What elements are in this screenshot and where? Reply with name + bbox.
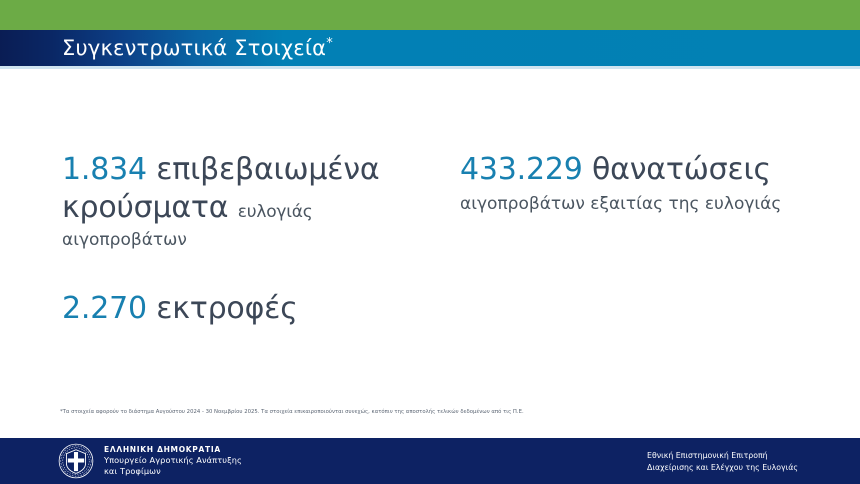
stat-label-small: ευλογιάς: [238, 202, 313, 222]
stat-subtext: αιγοπροβάτων: [62, 229, 422, 252]
page-title-asterisk: *: [326, 36, 333, 51]
stat-number: 1.834: [62, 152, 147, 187]
stat-card-culled-animals: 433.229 θανατώσεις αιγοπροβάτων εξαιτίας…: [460, 151, 820, 216]
ministry-line-2: Υπουργείο Αγροτικής Ανάπτυξης: [104, 455, 242, 466]
stat-number: 2.270: [62, 291, 147, 326]
header-band: Συγκεντρωτικά Στοιχεία*: [0, 30, 860, 66]
stats-column-left: 1.834 επιβεβαιωμένα κρούσματα ευλογιάς α…: [62, 151, 422, 328]
footer-organisation: ΕΛΛΗΝΙΚΗ ΔΗΜΟΚΡΑΤΙΑ Υπουργείο Αγροτικής …: [58, 443, 242, 479]
footer-bar: ΕΛΛΗΝΙΚΗ ΔΗΜΟΚΡΑΤΙΑ Υπουργείο Αγροτικής …: [0, 438, 860, 484]
page-title-text: Συγκεντρωτικά Στοιχεία: [62, 36, 326, 60]
committee-line-1: Εθνική Επιστημονική Επιτροπή: [647, 450, 798, 462]
page-title: Συγκεντρωτικά Στοιχεία*: [62, 37, 333, 59]
main-content: 1.834 επιβεβαιωμένα κρούσματα ευλογιάς α…: [0, 69, 860, 438]
stat-headline: 1.834 επιβεβαιωμένα κρούσματα ευλογιάς: [62, 151, 422, 228]
stat-headline: 433.229 θανατώσεις: [460, 151, 820, 189]
committee-text: Εθνική Επιστημονική Επιτροπή Διαχείρισης…: [647, 450, 798, 473]
top-green-strip: [0, 0, 860, 30]
stat-card-farms: 2.270 εκτροφές: [62, 290, 422, 328]
ministry-line-3: και Τροφίμων: [104, 466, 242, 477]
greek-coat-of-arms-icon: [58, 443, 94, 479]
ministry-text: ΕΛΛΗΝΙΚΗ ΔΗΜΟΚΡΑΤΙΑ Υπουργείο Αγροτικής …: [104, 445, 242, 477]
footnote: *Τα στοιχεία αφορούν το διάστημα Αυγούστ…: [60, 409, 820, 416]
stat-number: 433.229: [460, 152, 583, 187]
ministry-line-1: ΕΛΛΗΝΙΚΗ ΔΗΜΟΚΡΑΤΙΑ: [104, 445, 242, 455]
stat-label: θανατώσεις: [592, 152, 771, 187]
stat-card-confirmed-cases: 1.834 επιβεβαιωμένα κρούσματα ευλογιάς α…: [62, 151, 422, 252]
stat-headline: 2.270 εκτροφές: [62, 290, 422, 328]
committee-line-2: Διαχείρισης και Ελέγχου της Ευλογιάς: [647, 462, 798, 474]
stats-column-right: 433.229 θανατώσεις αιγοπροβάτων εξαιτίας…: [460, 151, 820, 216]
stat-label: εκτροφές: [156, 291, 297, 326]
stat-subtext: αιγοπροβάτων εξαιτίας της ευλογιάς: [460, 193, 820, 216]
